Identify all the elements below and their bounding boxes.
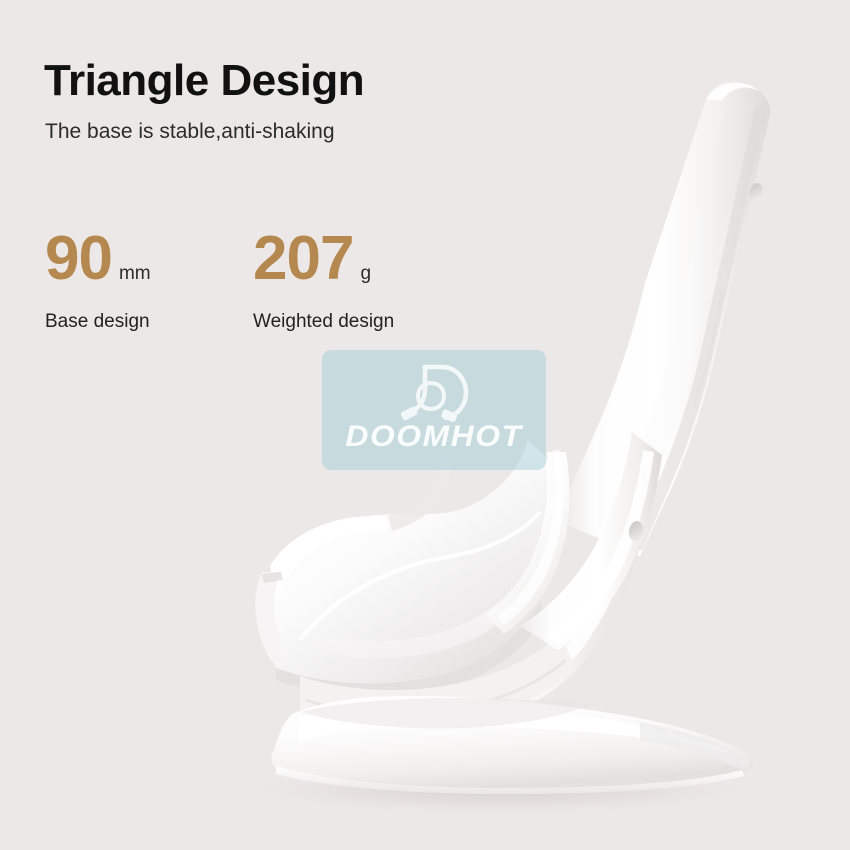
brand-wordmark: DOOMHOT [322, 420, 546, 454]
cradle-over-watermark [486, 452, 569, 634]
stat-unit: g [360, 264, 371, 283]
product-back-post [556, 81, 770, 556]
product-shadow [225, 764, 775, 816]
marketing-image-canvas: Triangle Design The base is stable,anti-… [0, 0, 850, 850]
cable-d-logo-icon [395, 359, 473, 425]
stat-label: Base design [45, 311, 253, 333]
stats-group: 90 mm Base design 207 g Weighted design [45, 228, 394, 333]
product-base [271, 696, 752, 794]
stat-value: 90 [45, 228, 112, 290]
arm-hole [627, 520, 645, 542]
stat-weighted-design: 207 g Weighted design [253, 228, 394, 333]
stat-base-design: 90 mm Base design [45, 228, 253, 333]
stat-unit: mm [119, 264, 151, 283]
page-title: Triangle Design [44, 58, 364, 104]
stat-value: 207 [253, 228, 353, 290]
page-subtitle: The base is stable,anti-shaking [45, 120, 335, 144]
brand-watermark: DOOMHOT [322, 350, 546, 470]
post-hole [748, 182, 765, 203]
product-neck [300, 634, 576, 728]
product-arm [470, 492, 648, 717]
stat-label: Weighted design [253, 311, 394, 333]
product-cradle [255, 440, 562, 695]
